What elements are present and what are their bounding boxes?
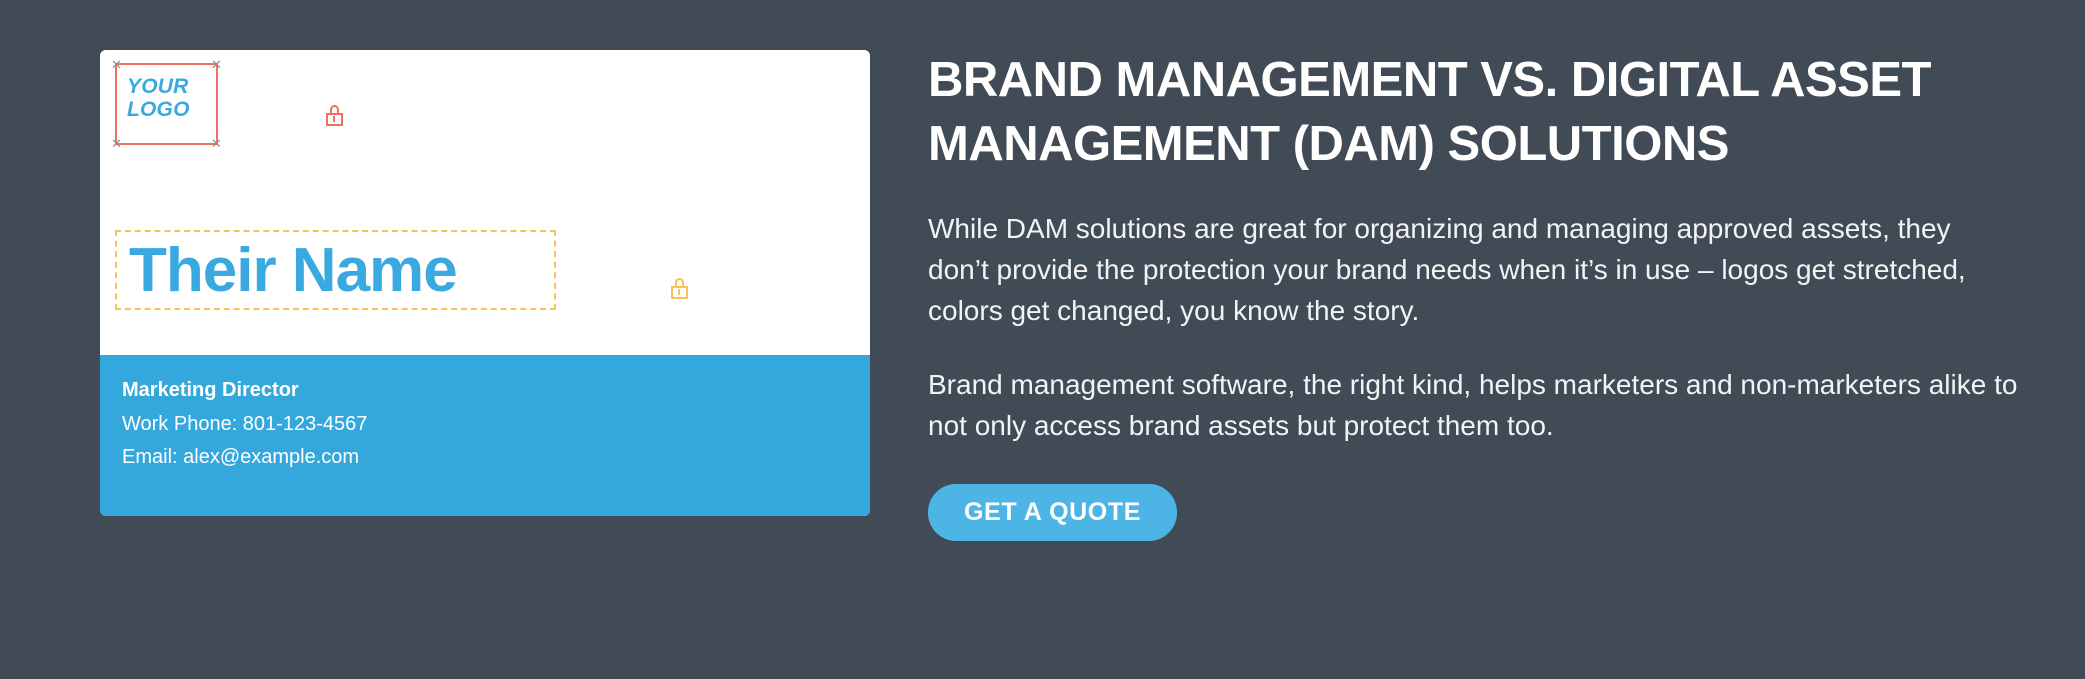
x-marker-icon: ✕ <box>110 58 123 71</box>
work-phone: Work Phone: 801-123-4567 <box>122 408 367 441</box>
business-card-preview: YOUR LOGO ✕ ✕ ✕ ✕ Their Name <box>100 50 870 516</box>
lock-keyhole <box>333 116 335 122</box>
body-paragraph-1: While DAM solutions are great for organi… <box>928 208 2018 331</box>
email-address: Email: alex@example.com <box>122 441 367 474</box>
lock-icon-logo <box>326 105 343 126</box>
copy-column: Brand Management vs. Digital Asset Manag… <box>928 48 2018 541</box>
card-contact-footer: Marketing Director Work Phone: 801-123-4… <box>100 355 870 516</box>
contact-details: Marketing Director Work Phone: 801-123-4… <box>122 377 367 474</box>
job-title: Marketing Director <box>122 377 367 403</box>
lock-icon-name <box>671 278 688 299</box>
page-title: Brand Management vs. Digital Asset Manag… <box>928 48 2018 176</box>
x-marker-icon: ✕ <box>210 137 223 150</box>
get-a-quote-button[interactable]: Get a Quote <box>928 484 1177 541</box>
logo-text: YOUR LOGO <box>127 75 190 121</box>
name-text: Their Name <box>129 236 457 306</box>
card-upper-area: YOUR LOGO ✕ ✕ ✕ ✕ Their Name <box>100 50 870 355</box>
x-marker-icon: ✕ <box>110 137 123 150</box>
body-paragraph-2: Brand management software, the right kin… <box>928 364 2018 446</box>
name-locked-region[interactable]: Their Name <box>115 230 556 310</box>
x-marker-icon: ✕ <box>210 58 223 71</box>
page-root: YOUR LOGO ✕ ✕ ✕ ✕ Their Name <box>0 0 2085 679</box>
lock-keyhole <box>678 289 680 295</box>
logo-locked-region[interactable]: YOUR LOGO ✕ ✕ ✕ ✕ <box>115 63 218 145</box>
